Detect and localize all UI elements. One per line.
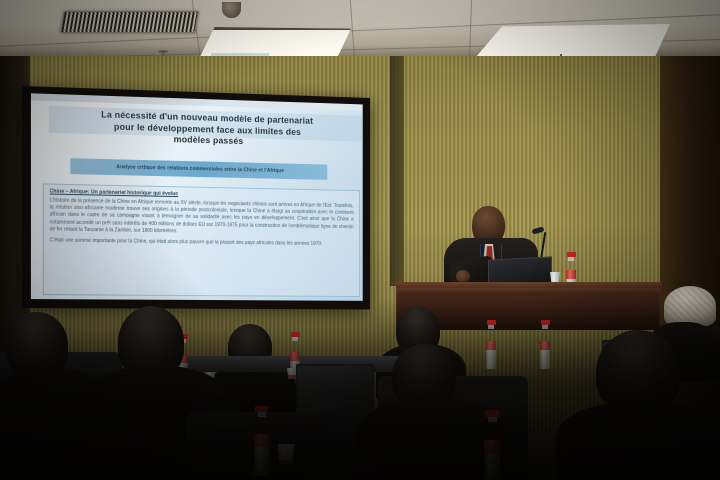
- presentation-slide: La nécessité d'un nouveau modèle de part…: [31, 93, 363, 301]
- bottle-neck: [568, 257, 574, 261]
- wall-column-mid: [390, 56, 404, 286]
- slide-body-box: Chine – Afrique: Un partenariat historiq…: [43, 183, 360, 297]
- presenter-hand: [456, 270, 470, 282]
- projection-screen: La nécessité d'un nouveau modèle de part…: [22, 86, 370, 309]
- air-vent-icon: [60, 11, 199, 33]
- ceiling-grid-line: [469, 0, 472, 62]
- slide-body-paragraph: L'histoire de la présence de la Chine en…: [50, 198, 354, 238]
- slide-subtitle-band: Analyse critique des relations commercia…: [70, 158, 327, 180]
- conference-room-photo: La nécessité d'un nouveau modèle de part…: [0, 0, 720, 480]
- ceiling-dome-icon: [222, 2, 241, 18]
- ceiling: [0, 0, 720, 62]
- slide-body-paragraph: C'était une somme importante pour la Chi…: [50, 237, 354, 248]
- room-shadow: [0, 300, 720, 480]
- bottle-label: [566, 270, 576, 279]
- slide-subtitle: Analyse critique des relations commercia…: [116, 164, 284, 174]
- ceiling-hanger-cap: [158, 50, 168, 53]
